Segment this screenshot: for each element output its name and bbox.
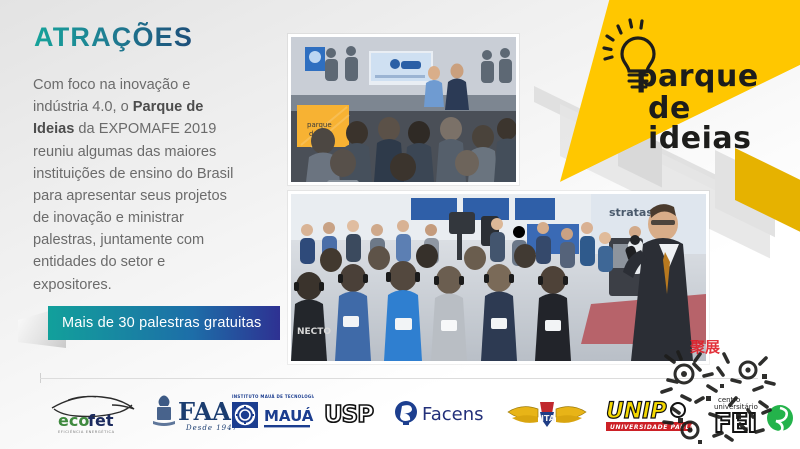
brand-name-line2: de ideias xyxy=(648,94,786,154)
partner-logo-facens: Facens xyxy=(392,388,492,436)
brand-name-line1: parque xyxy=(636,62,759,92)
svg-text:MAUÁ: MAUÁ xyxy=(264,406,314,425)
partner-logo-usp: USP xyxy=(320,388,390,436)
svg-text:fet: fet xyxy=(88,411,114,430)
brand-logo: parque de ideias xyxy=(596,18,786,128)
qr-code-watermark: 聚展 xyxy=(648,340,790,446)
yellow-accent-shape xyxy=(735,148,800,232)
svg-text:Facens: Facens xyxy=(422,404,484,425)
svg-text:eco: eco xyxy=(58,411,89,430)
watermark-text: 聚展 xyxy=(689,340,720,356)
banner-label: Mais de 30 palestras gratuitas xyxy=(48,315,261,331)
page-title: ATRAÇÕES xyxy=(34,22,193,53)
photo-top: parque de ide xyxy=(288,34,519,185)
svg-text:INSTITUTO MAUÁ DE TECNOLOGIA: INSTITUTO MAUÁ DE TECNOLOGIA xyxy=(232,394,314,399)
photo-bottom: stratasys xyxy=(288,191,709,364)
partner-logo-maua: INSTITUTO MAUÁ DE TECNOLOGIA MAUÁ xyxy=(228,388,314,436)
highlight-banner: Mais de 30 palestras gratuitas xyxy=(48,306,280,340)
partner-logo-ita: ITA xyxy=(504,388,590,436)
slide-root: parque de ideias ATRAÇÕES Com foco na in… xyxy=(0,0,800,449)
body-paragraph: Com foco na inovação e indústria 4.0, o … xyxy=(33,74,245,296)
body-text-part2: da EXPOMAFE 2019 reuniu algumas das maio… xyxy=(33,121,233,292)
partner-logo-ecofet: eco fet EFICIÊNCIA ENERGÉTICA xyxy=(44,388,144,436)
svg-text:USP: USP xyxy=(324,402,373,428)
svg-text:ITA: ITA xyxy=(541,414,556,423)
svg-text:parque: parque xyxy=(307,121,332,129)
svg-text:NECTO: NECTO xyxy=(297,327,331,337)
svg-text:EFICIÊNCIA ENERGÉTICA: EFICIÊNCIA ENERGÉTICA xyxy=(58,429,115,434)
